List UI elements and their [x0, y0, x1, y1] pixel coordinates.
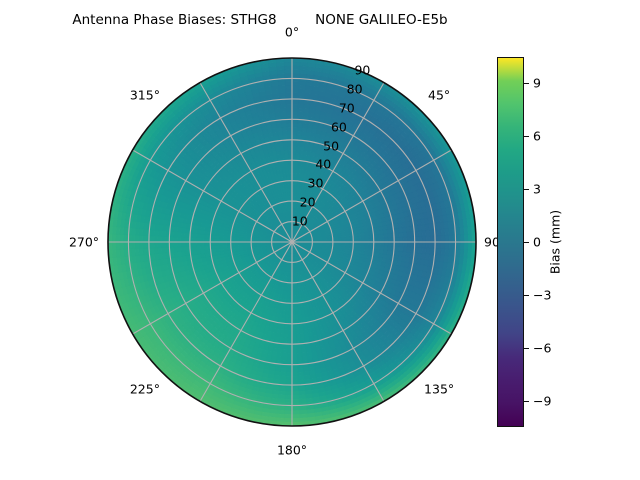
radial-tick-80: 80 [347, 81, 363, 96]
radial-tick-40: 40 [315, 157, 331, 172]
radial-tick-30: 30 [308, 176, 324, 191]
colorbar[interactable]: 9630−3−6−9 [497, 57, 524, 427]
colorbar-tick-label: −9 [533, 393, 551, 408]
colorbar-gradient [497, 57, 524, 427]
colorbar-tick-label: −6 [533, 340, 551, 355]
colorbar-tick-label: 6 [533, 129, 541, 144]
radial-tick-20: 20 [300, 195, 316, 210]
colorbar-tick-label: 3 [533, 182, 541, 197]
angular-tick-180: 180° [277, 443, 307, 458]
angular-tick-45: 45° [428, 87, 450, 102]
polar-plot-svg [107, 57, 477, 427]
radial-tick-10: 10 [292, 214, 308, 229]
colorbar-tick-mark [524, 401, 529, 402]
chart-title: Antenna Phase Biases: STHG8 NONE GALILEO… [0, 12, 520, 28]
angular-tick-0: 0° [285, 25, 299, 40]
angular-tick-225: 225° [130, 382, 160, 397]
colorbar-tick-mark [524, 189, 529, 190]
angular-tick-270: 270° [69, 235, 99, 250]
colorbar-tick-label: 0 [533, 235, 541, 250]
colorbar-tick-label: −3 [533, 287, 551, 302]
colorbar-tick-mark [524, 136, 529, 137]
colorbar-tick-mark [524, 83, 529, 84]
radial-tick-60: 60 [331, 119, 347, 134]
colorbar-tick-mark [524, 242, 529, 243]
radial-tick-50: 50 [323, 138, 339, 153]
angular-tick-315: 315° [130, 87, 160, 102]
colorbar-tick-label: 9 [533, 76, 541, 91]
angular-tick-135: 135° [424, 382, 454, 397]
radial-tick-70: 70 [339, 100, 355, 115]
radial-tick-90: 90 [354, 63, 370, 78]
polar-axes[interactable] [107, 57, 477, 427]
figure-canvas: Antenna Phase Biases: STHG8 NONE GALILEO… [0, 0, 640, 480]
colorbar-axis-label: Bias (mm) [548, 210, 563, 274]
colorbar-tick-mark [524, 348, 529, 349]
colorbar-tick-mark [524, 295, 529, 296]
